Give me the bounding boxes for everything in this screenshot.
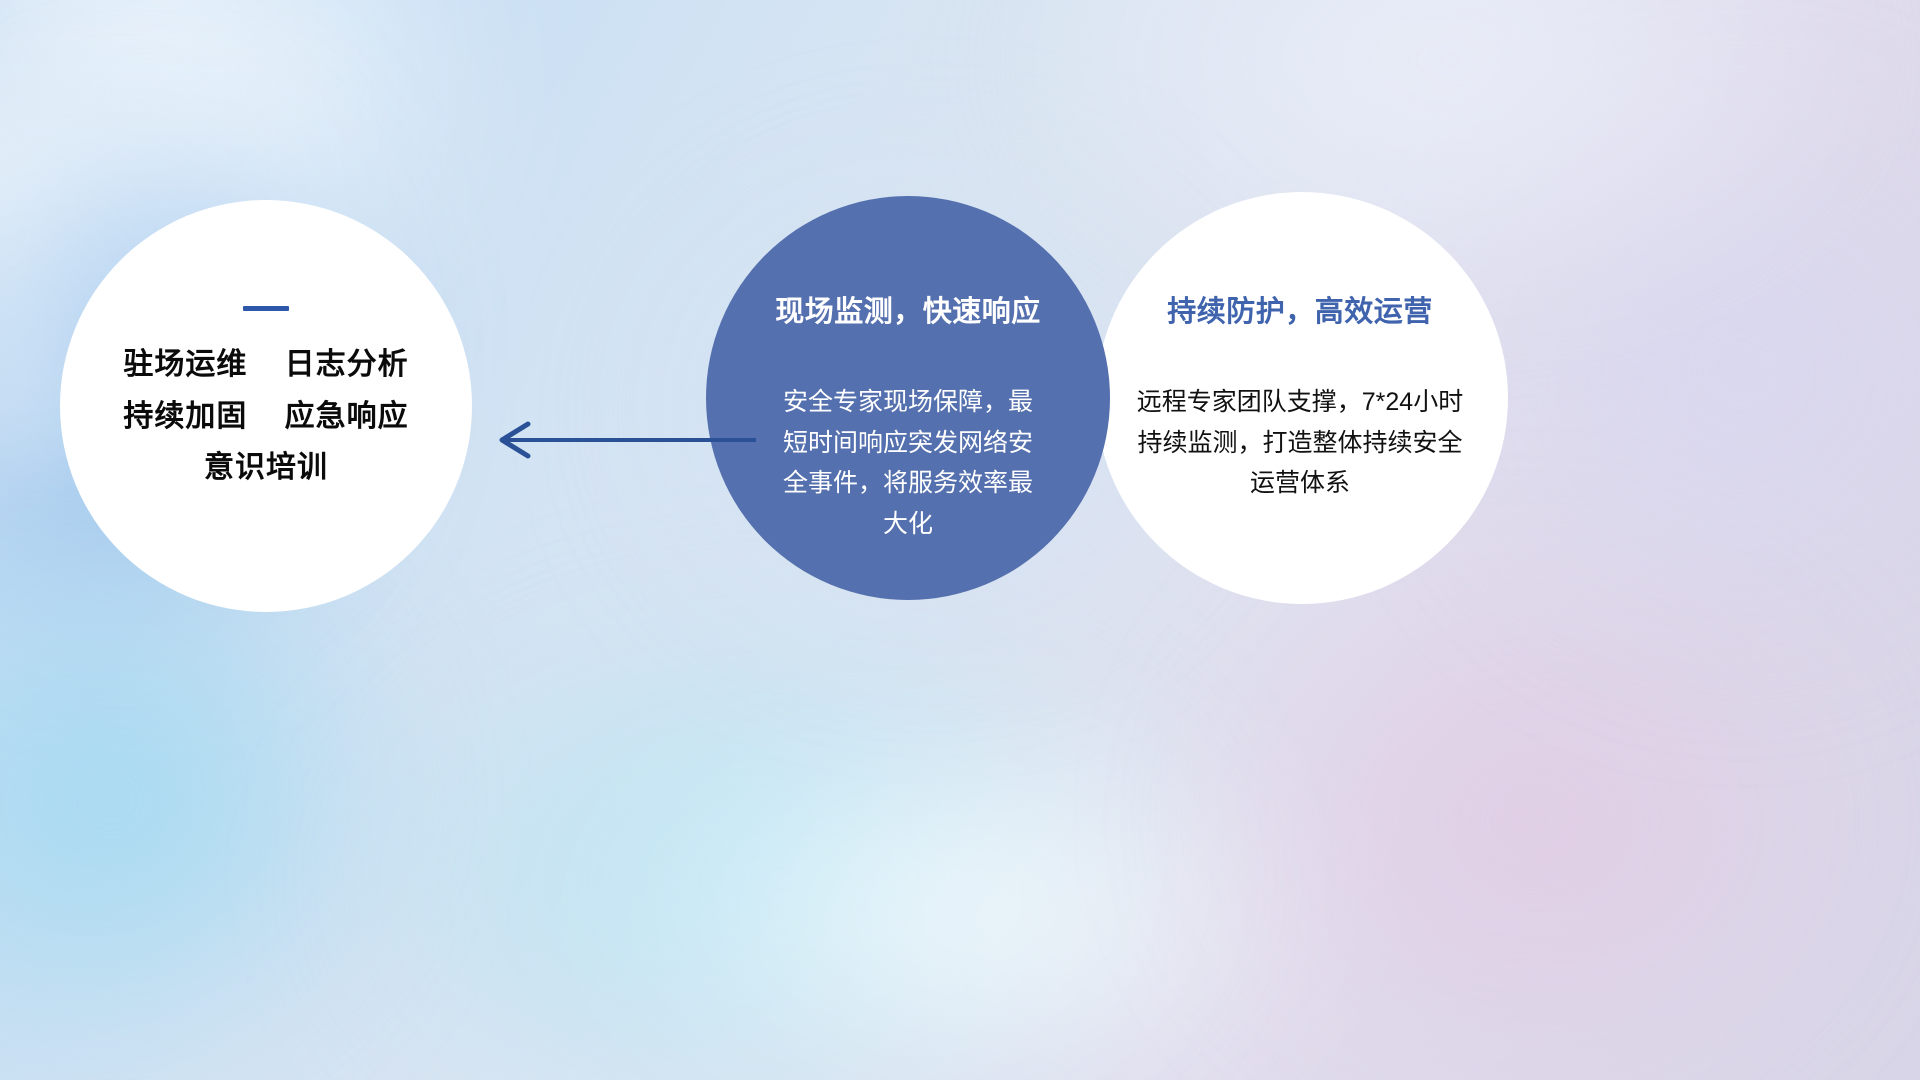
accent-dash-icon xyxy=(243,306,289,311)
leftward-flow-arrow xyxy=(470,410,760,470)
right-circle[interactable]: 持续防护，高效运营 远程专家团队支撑，7*24小时持续监测，打造整体持续安全运营… xyxy=(1098,196,1502,600)
blue-circle-body: 安全专家现场保障，最短时间响应突发网络安全事件，将服务效率最大化 xyxy=(779,382,1037,544)
left-circle-line-1: 驻场运维 日志分析 xyxy=(123,349,408,381)
blue-circle[interactable]: 现场监测，快速响应 安全专家现场保障，最短时间响应突发网络安全事件，将服务效率最… xyxy=(706,196,1110,600)
left-circle[interactable]: 驻场运维 日志分析 持续加固 应急响应 意识培训 xyxy=(60,200,472,612)
slide-canvas: 驻场运维 日志分析 持续加固 应急响应 意识培训 持续防护，高效运营 远程专家团… xyxy=(0,0,1920,1080)
right-circle-body: 远程专家团队支撑，7*24小时持续监测，打造整体持续安全运营体系 xyxy=(1135,382,1465,504)
left-circle-text-group: 驻场运维 日志分析 持续加固 应急响应 意识培训 xyxy=(123,349,408,484)
left-circle-line-2: 持续加固 应急响应 xyxy=(123,401,408,433)
left-circle-line-3: 意识培训 xyxy=(204,452,328,484)
right-circle-title: 持续防护，高效运营 xyxy=(1167,288,1433,330)
blue-circle-title: 现场监测，快速响应 xyxy=(775,288,1041,330)
